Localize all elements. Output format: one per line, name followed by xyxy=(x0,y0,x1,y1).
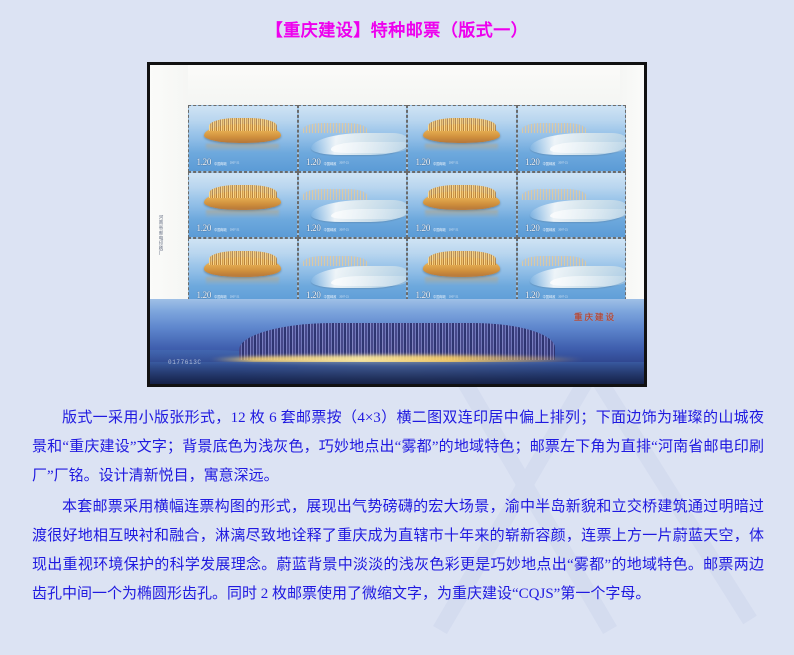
peninsula-skyline-art xyxy=(204,124,281,143)
interchange-ramp-art xyxy=(550,142,626,152)
sheet-margin-top xyxy=(150,65,644,105)
stamp-sheet-figure: 河南省邮电印刷厂 1.20 中国邮政 2007-21 1.20 xyxy=(147,62,647,387)
peninsula-skyline-art xyxy=(423,124,500,143)
issuer-label: 中国邮政 xyxy=(433,162,446,166)
stamp-denomination: 1.20 中国邮政 2007-21 xyxy=(525,224,568,233)
stamp-cell: 1.20 中国邮政 2007-21 xyxy=(517,172,627,239)
issue-year-label: 2007-21 xyxy=(339,163,349,166)
water-reflection-art xyxy=(425,277,498,285)
stamp-denomination: 1.20 中国邮政 2007-21 xyxy=(197,224,240,233)
stamp-cell: 1.20 中国邮政 2007-21 xyxy=(188,238,298,305)
distant-skyline-art xyxy=(303,123,368,133)
stamp-cell: 1.20 中国邮政 2007-21 xyxy=(298,172,408,239)
distant-skyline-art xyxy=(303,189,368,199)
water-reflection-art xyxy=(425,144,498,152)
issue-year-label: 2007-21 xyxy=(558,163,568,166)
issuer-label: 中国邮政 xyxy=(543,228,556,232)
interchange-ramp-art xyxy=(331,209,407,219)
issuer-label: 中国邮政 xyxy=(324,228,337,232)
denomination-value: 1.20 xyxy=(306,224,321,233)
interchange-ramp-art xyxy=(550,209,626,219)
issue-year-label: 2007-21 xyxy=(230,229,240,232)
distant-skyline-art xyxy=(522,256,587,266)
issue-year-label: 2007-21 xyxy=(339,229,349,232)
water-reflection-art xyxy=(206,210,279,218)
peninsula-skyline-art xyxy=(423,257,500,276)
issue-year-label: 2007-21 xyxy=(449,229,459,232)
stamp-cell: 1.20 中国邮政 2007-21 xyxy=(407,172,517,239)
issuer-label: 中国邮政 xyxy=(543,162,556,166)
denomination-value: 1.20 xyxy=(525,224,540,233)
issuer-label: 中国邮政 xyxy=(324,162,337,166)
peninsula-skyline-art xyxy=(204,257,281,276)
stamp-cell: 1.20 中国邮政 2007-21 xyxy=(517,105,627,172)
interchange-ramp-art xyxy=(331,142,407,152)
stamp-denomination: 1.20 中国邮政 2007-21 xyxy=(197,158,240,167)
stamp-denomination: 1.20 中国邮政 2007-21 xyxy=(306,224,349,233)
interchange-ramp-art xyxy=(331,276,407,286)
printer-imprint: 河南省邮电印刷厂 xyxy=(152,215,164,301)
sheet-serial-number: 0177613C xyxy=(168,359,202,366)
stamp-denomination: 1.20 中国邮政 2007-21 xyxy=(416,224,459,233)
sheet-paper: 河南省邮电印刷厂 1.20 中国邮政 2007-21 1.20 xyxy=(150,65,644,384)
stamp-denomination: 1.20 中国邮政 2007-21 xyxy=(416,158,459,167)
issue-year-label: 2007-21 xyxy=(449,163,459,166)
distant-skyline-art xyxy=(522,123,587,133)
paragraph-2: 本套邮票采用横幅连票构图的形式，展现出气势磅礴的宏大场景，渝中半岛新貌和立交桥建… xyxy=(32,493,764,609)
issuer-label: 中国邮政 xyxy=(433,228,446,232)
water-reflection-art xyxy=(425,210,498,218)
stamp-cell: 1.20 中国邮政 2007-21 xyxy=(188,105,298,172)
denomination-value: 1.20 xyxy=(416,224,431,233)
stamp-grid: 1.20 中国邮政 2007-21 1.20 中国邮政 2007-21 xyxy=(188,105,626,305)
interchange-ramp-art xyxy=(550,276,626,286)
denomination-value: 1.20 xyxy=(416,158,431,167)
sheet-bottom-night-panorama: 重庆建设 0177613C xyxy=(150,299,644,384)
water-reflection-art xyxy=(206,144,279,152)
stamp-cell: 1.20 中国邮政 2007-21 xyxy=(298,238,408,305)
page-title: 【重庆建设】特种邮票（版式一） xyxy=(0,16,794,41)
denomination-value: 1.20 xyxy=(525,158,540,167)
peninsula-skyline-art xyxy=(204,191,281,210)
stamp-cell: 1.20 中国邮政 2007-21 xyxy=(407,105,517,172)
stamp-cell: 1.20 中国邮政 2007-21 xyxy=(188,172,298,239)
issuer-label: 中国邮政 xyxy=(214,162,227,166)
stamp-cell: 1.20 中国邮政 2007-21 xyxy=(407,238,517,305)
distant-skyline-art xyxy=(303,256,368,266)
stamp-cell: 1.20 中国邮政 2007-21 xyxy=(517,238,627,305)
issue-year-label: 2007-21 xyxy=(558,229,568,232)
issuer-label: 中国邮政 xyxy=(214,228,227,232)
stamp-denomination: 1.20 中国邮政 2007-21 xyxy=(306,158,349,167)
issue-year-label: 2007-21 xyxy=(230,163,240,166)
water-reflection-art xyxy=(206,277,279,285)
peninsula-skyline-art xyxy=(423,191,500,210)
river-art xyxy=(150,362,644,384)
denomination-value: 1.20 xyxy=(306,158,321,167)
denomination-value: 1.20 xyxy=(197,158,212,167)
distant-skyline-art xyxy=(522,189,587,199)
stamp-denomination: 1.20 中国邮政 2007-21 xyxy=(525,158,568,167)
sheet-caption: 重庆建设 xyxy=(574,311,616,323)
stamp-cell: 1.20 中国邮政 2007-21 xyxy=(298,105,408,172)
denomination-value: 1.20 xyxy=(197,224,212,233)
article-body: 版式一采用小版张形式，12 枚 6 套邮票按（4×3）横二图双连印居中偏上排列；… xyxy=(32,404,764,611)
paragraph-1: 版式一采用小版张形式，12 枚 6 套邮票按（4×3）横二图双连印居中偏上排列；… xyxy=(32,404,764,491)
